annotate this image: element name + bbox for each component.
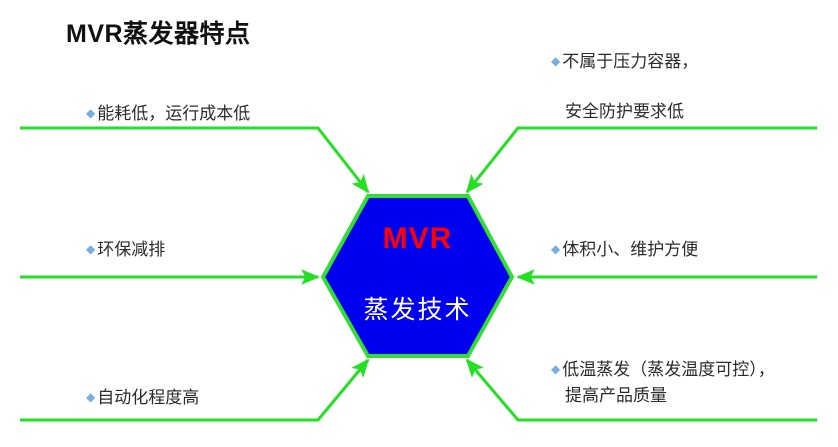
diamond-bullet-icon: ◆ xyxy=(86,100,95,126)
feature-text-line2: 安全防护要求低 xyxy=(565,102,684,121)
connector-pressure-vessel xyxy=(467,128,817,192)
feature-label-pressure-vessel: ◆不属于压力容器， 安全防护要求低 xyxy=(551,48,698,125)
feature-text: 能耗低，运行成本低 xyxy=(97,104,250,123)
center-hexagon[interactable] xyxy=(323,196,512,356)
feature-text: 自动化程度高 xyxy=(97,388,199,407)
connector-energy xyxy=(20,128,368,192)
feature-text: 低温蒸发（蒸发温度可控）， xyxy=(562,360,775,379)
feature-text: 不属于压力容器， xyxy=(562,52,698,71)
feature-label-low-temperature: ◆低温蒸发（蒸发温度可控）， 提高产品质量 xyxy=(551,356,775,409)
diamond-bullet-icon: ◆ xyxy=(551,356,560,382)
feature-text: 环保减排 xyxy=(97,240,165,259)
diamond-bullet-icon: ◆ xyxy=(86,236,95,262)
diamond-bullet-icon: ◆ xyxy=(86,384,95,410)
feature-label-environment: ◆环保减排 xyxy=(86,236,165,263)
diamond-bullet-icon: ◆ xyxy=(551,48,560,74)
diagram-canvas: MVR蒸发器特点 MVR 蒸发技术 ◆能耗低，运行成本低 ◆环保减排 ◆自动化程… xyxy=(0,0,838,447)
feature-label-automation: ◆自动化程度高 xyxy=(86,384,199,411)
feature-label-energy: ◆能耗低，运行成本低 xyxy=(86,100,250,127)
feature-text: 体积小、维护方便 xyxy=(562,240,698,259)
diamond-bullet-icon: ◆ xyxy=(551,236,560,262)
page-title: MVR蒸发器特点 xyxy=(66,14,251,50)
feature-text-line2: 提高产品质量 xyxy=(565,386,667,405)
feature-label-volume: ◆体积小、维护方便 xyxy=(551,236,698,263)
